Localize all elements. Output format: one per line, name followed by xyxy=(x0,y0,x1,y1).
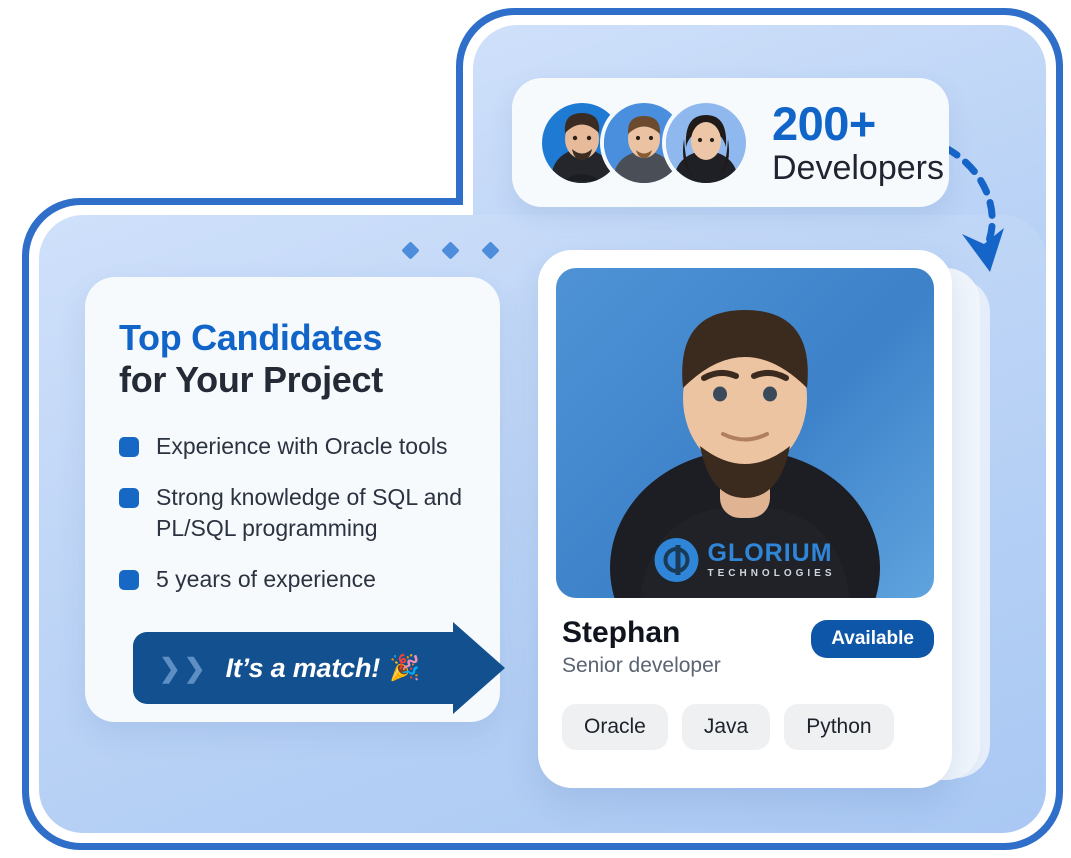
candidate-photo: GLORIUM TECHNOLOGIES xyxy=(556,268,934,598)
shirt-logo-sub: TECHNOLOGIES xyxy=(707,569,835,579)
requirement-text: 5 years of experience xyxy=(156,564,376,595)
candidate-card[interactable]: GLORIUM TECHNOLOGIES Stephan Senior deve… xyxy=(538,250,952,788)
chevron-double-right-icon: ❯❯ xyxy=(159,655,206,681)
curved-dashed-arrow-icon xyxy=(940,130,1020,290)
bullet-square-icon xyxy=(119,570,139,590)
page-title: Top Candidates for Your Project xyxy=(119,317,468,401)
list-item: 5 years of experience xyxy=(119,564,468,595)
skill-tags: Oracle Java Python xyxy=(556,704,934,750)
bullet-square-icon xyxy=(119,437,139,457)
list-item: Experience with Oracle tools xyxy=(119,431,468,462)
match-label: It’s a match! xyxy=(226,653,380,684)
confetti-icon: 🎉 xyxy=(389,654,420,683)
diamond-icon xyxy=(441,241,459,259)
title-line-2: for Your Project xyxy=(119,359,468,401)
avatar-developer-3 xyxy=(662,99,750,187)
illustration-stage: 200+ Developers xyxy=(0,0,1071,858)
glorium-logo-icon xyxy=(654,538,698,582)
list-item: Strong knowledge of SQL and PL/SQL progr… xyxy=(119,482,468,544)
bullet-square-icon xyxy=(119,488,139,508)
title-line-1: Top Candidates xyxy=(119,317,468,359)
availability-badge: Available xyxy=(811,620,934,658)
its-a-match-banner[interactable]: ❯❯ It’s a match! 🎉 xyxy=(133,622,505,714)
diamond-icon xyxy=(401,241,419,259)
candidate-meta: Stephan Senior developer Available xyxy=(556,616,934,678)
shirt-logo: GLORIUM TECHNOLOGIES xyxy=(654,538,835,582)
developers-count-pill: 200+ Developers xyxy=(512,78,949,207)
avatar-group xyxy=(538,99,750,187)
shirt-logo-main: GLORIUM xyxy=(707,541,835,566)
developers-text: 200+ Developers xyxy=(772,100,944,185)
skill-tag[interactable]: Python xyxy=(784,704,893,750)
skill-tag[interactable]: Oracle xyxy=(562,704,668,750)
decorative-diamonds xyxy=(404,244,497,257)
developers-count: 200+ xyxy=(772,100,944,147)
requirements-list: Experience with Oracle tools Strong know… xyxy=(119,431,468,595)
skill-tag[interactable]: Java xyxy=(682,704,770,750)
match-banner-body[interactable]: ❯❯ It’s a match! 🎉 xyxy=(133,632,433,704)
requirement-text: Strong knowledge of SQL and PL/SQL progr… xyxy=(156,482,468,544)
developers-label: Developers xyxy=(772,151,944,185)
diamond-icon xyxy=(481,241,499,259)
requirement-text: Experience with Oracle tools xyxy=(156,431,447,462)
